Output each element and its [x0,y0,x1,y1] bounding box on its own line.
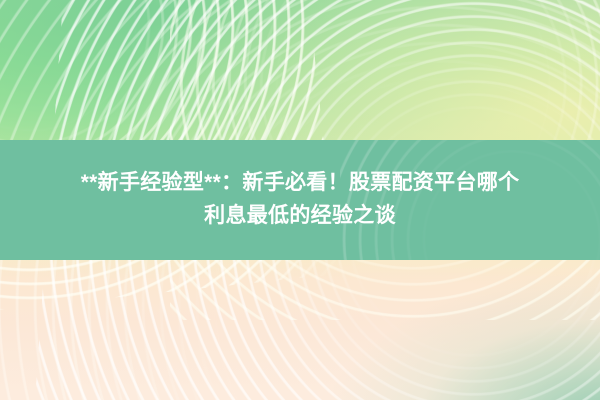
headline-band: **新手经验型**：新手必看！股票配资平台哪个 利息最低的经验之谈 [0,140,600,260]
promo-banner: **新手经验型**：新手必看！股票配资平台哪个 利息最低的经验之谈 [0,0,600,400]
headline-line-1: **新手经验型**：新手必看！股票配资平台哪个 [81,167,520,200]
headline-line-2: 利息最低的经验之谈 [204,200,396,233]
